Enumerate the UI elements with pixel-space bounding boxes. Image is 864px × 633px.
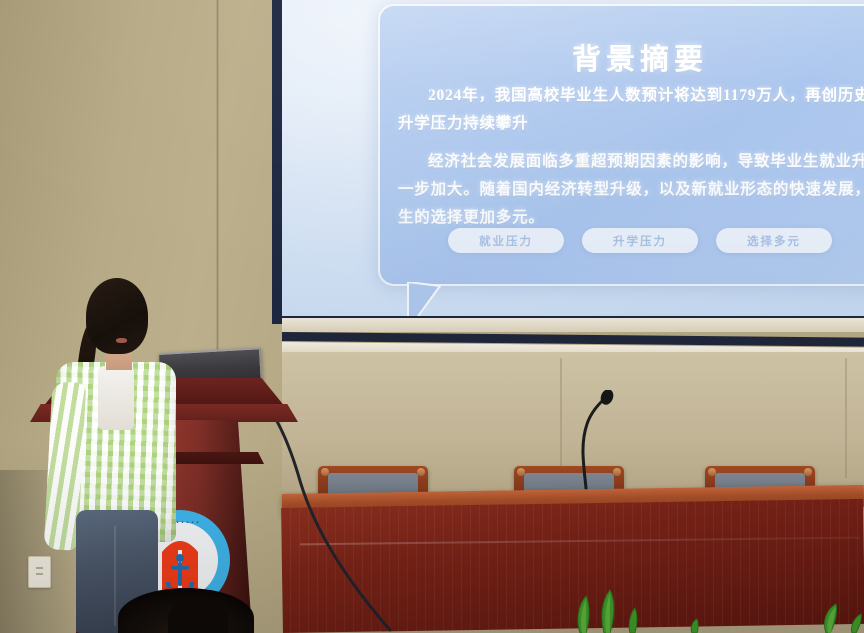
speech-bubble-tail	[406, 282, 462, 316]
slide-body: 2024年，我国高校毕业生人数预计将达到1179万人，再创历史新高， 升学压力持…	[398, 82, 864, 232]
foreground-plant	[520, 586, 864, 633]
chair-knob-right-icon	[804, 468, 812, 476]
projection-screen: 背景摘要 2024年，我国高校毕业生人数预计将达到1179万人，再创历史新高， …	[282, 0, 864, 316]
presenter	[42, 278, 192, 633]
slide-tag-row: 就业压力 升学压力 选择多元	[380, 228, 864, 253]
audience-head-top	[168, 598, 228, 633]
slide-line-1: 2024年，我国高校毕业生人数预计将达到1179万人，再创历史新高，	[428, 87, 864, 104]
wall-outlet	[28, 556, 51, 588]
wall-panel-joint-2	[845, 358, 847, 478]
wall-upper-trim	[282, 318, 864, 332]
slide-paragraph-2: 经济社会发展面临多重超预期因素的影响，导致毕业生就业升学压力进 一步加大。随着国…	[398, 148, 864, 232]
slide-tag-diverse-choices: 选择多元	[716, 228, 832, 253]
slide-tag-education-pressure: 升学压力	[582, 228, 698, 253]
slide-paragraph-1: 2024年，我国高校毕业生人数预计将达到1179万人，再创历史新高， 升学压力持…	[398, 82, 864, 138]
slide-line-4: 一步加大。随着国内经济转型升级，以及新就业形态的快速发展，毕业	[398, 176, 864, 204]
table-microphone	[585, 392, 591, 500]
slide-line-2: 升学压力持续攀升	[398, 110, 528, 138]
presenter-jeans-seam	[114, 526, 116, 626]
slide-line-3: 经济社会发展面临多重超预期因素的影响，导致毕业生就业升学压力进	[428, 153, 864, 170]
presentation-photo: 背景摘要 2024年，我国高校毕业生人数预计将达到1179万人，再创历史新高， …	[0, 0, 864, 633]
slide-tag-employment-pressure: 就业压力	[448, 228, 564, 253]
slide-card: 背景摘要 2024年，我国高校毕业生人数预计将达到1179万人，再创历史新高， …	[378, 4, 864, 286]
presenter-mouth	[116, 338, 127, 343]
presenter-inner-top	[98, 366, 134, 430]
slide-title: 背景摘要	[380, 36, 864, 78]
